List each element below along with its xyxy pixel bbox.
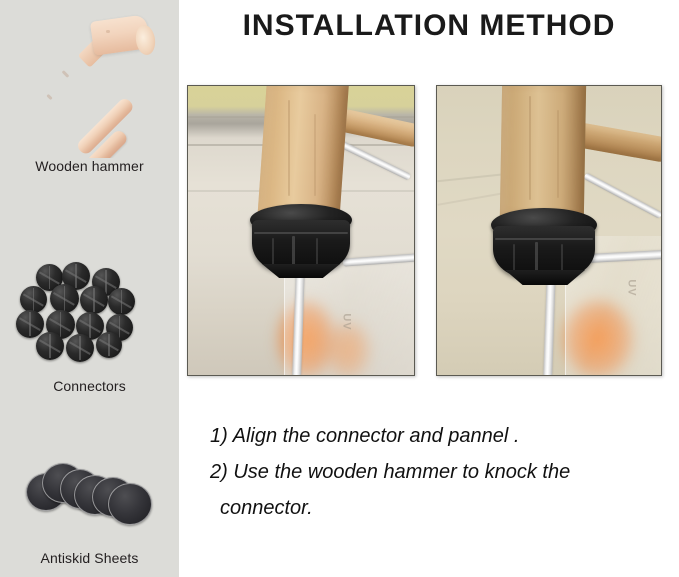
connector-rib [316, 238, 318, 266]
post-grain-line [557, 110, 559, 198]
antiskid-sheets-icon [0, 445, 179, 550]
sidebar-item-antiskid-sheets[interactable]: Antiskid Sheets [0, 445, 179, 566]
hammer-head-cap [134, 24, 157, 56]
hammer-grain-mark [62, 70, 70, 78]
sidebar-item-label: Connectors [0, 378, 179, 394]
post-grain-line [314, 114, 316, 196]
installation-photo-step-1: UV [187, 85, 415, 376]
post-grain-line [288, 100, 290, 196]
panel-embossed-text: UV [341, 313, 353, 330]
antiskid-disc [108, 483, 152, 525]
connector-rib [561, 244, 563, 272]
connectors-icon [0, 258, 179, 378]
parts-sidebar: Wooden hammer Connectors [0, 0, 179, 577]
connector-piece [96, 332, 122, 358]
connector-rib [495, 238, 593, 240]
page-title: INSTALLATION METHOD [179, 9, 679, 43]
wooden-post [500, 85, 586, 221]
sidebar-item-label: Wooden hammer [0, 158, 179, 174]
connector-piece [80, 286, 108, 314]
installation-photo-step-2: UV [436, 85, 662, 376]
installation-method-page: Wooden hammer Connectors [0, 0, 679, 577]
sidebar-item-connectors[interactable]: Connectors [0, 258, 179, 394]
panel-embossed-text: UV [626, 279, 638, 296]
sidebar-item-label: Antiskid Sheets [0, 550, 179, 566]
connector-piece [20, 286, 47, 313]
connector-rib [254, 232, 348, 234]
hammer-grain-mark [106, 30, 110, 33]
connector-piece [50, 284, 79, 313]
instructions-block: 1) Align the connector and pannel . 2) U… [210, 418, 670, 526]
hammer-grain-mark [46, 94, 52, 100]
wooden-hammer-icon [0, 8, 179, 158]
connector-piece [16, 310, 44, 338]
instruction-line-1: 1) Align the connector and pannel . [210, 418, 670, 454]
sidebar-item-wooden-hammer[interactable]: Wooden hammer [0, 8, 179, 174]
instruction-line-2: 2) Use the wooden hammer to knock the [210, 454, 670, 490]
connector-piece [66, 334, 94, 362]
connector-rib [272, 238, 274, 268]
connector-piece [108, 288, 135, 315]
post-grain-line [529, 96, 531, 200]
instruction-line-3: connector. [210, 490, 670, 526]
connector-rib [513, 244, 515, 274]
connector-piece [36, 332, 64, 360]
